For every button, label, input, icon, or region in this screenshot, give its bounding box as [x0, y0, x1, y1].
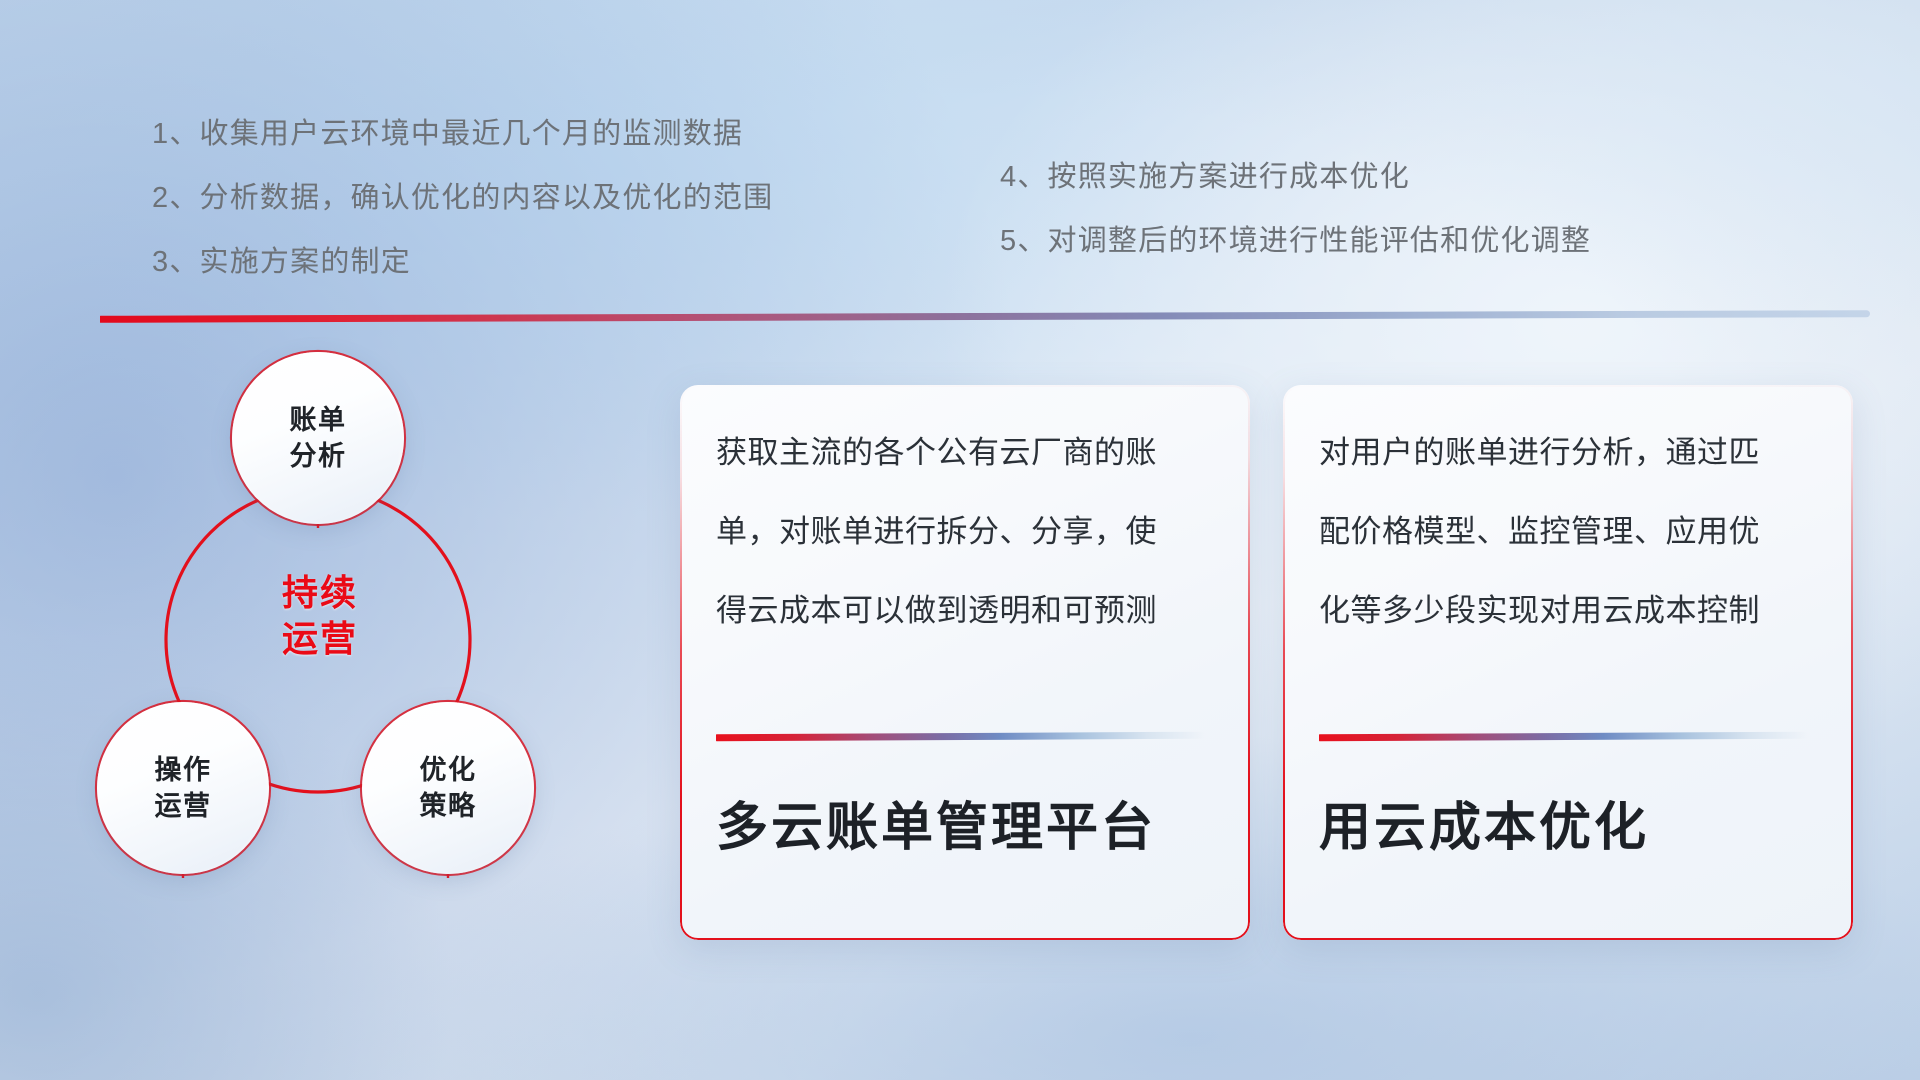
diagram-node-operations[interactable]: 操作 运营 — [97, 702, 269, 874]
step-item-2: 2、分析数据，确认优化的内容以及优化的范围 — [152, 184, 773, 213]
step-list-right: 4、按照实施方案进行成本优化 5、对调整后的环境进行性能评估和优化调整 — [1000, 163, 1591, 291]
card-1-title: 多云账单管理平台 — [716, 785, 1156, 860]
card-1-line-1: 获取主流的各个公有云厂商的账 — [716, 437, 1220, 468]
diagram-node-optimization-strategy-label: 优化 策略 — [420, 752, 477, 824]
node-br-line1: 优化 — [420, 755, 477, 785]
step-item-1: 1、收集用户云环境中最近几个月的监测数据 — [152, 120, 773, 149]
center-label-line2: 运营 — [282, 618, 358, 659]
diagram-node-bill-analysis[interactable]: 账单 分析 — [232, 352, 404, 524]
node-bl-line1: 操作 — [155, 755, 212, 785]
diagram-node-bill-analysis-label: 账单 分析 — [290, 402, 347, 474]
feature-card-multicloud-billing[interactable]: 获取主流的各个公有云厂商的账 单，对账单进行拆分、分享，使 得云成本可以做到透明… — [680, 385, 1250, 940]
card-2-line-3: 化等多少段实现对用云成本控制 — [1319, 595, 1823, 626]
card-1-divider — [716, 732, 1206, 742]
diagram-node-optimization-strategy[interactable]: 优化 策略 — [362, 702, 534, 874]
card-1-line-3: 得云成本可以做到透明和可预测 — [716, 595, 1220, 626]
feature-card-2-body: 对用户的账单进行分析，通过匹 配价格模型、监控管理、应用优 化等多少段实现对用云… — [1319, 437, 1823, 674]
center-label-line1: 持续 — [282, 572, 358, 613]
diagram-center-label: 持续 运营 — [260, 570, 380, 662]
node-br-line2: 策略 — [420, 791, 477, 821]
card-1-line-2: 单，对账单进行拆分、分享，使 — [716, 516, 1220, 547]
node-bl-line2: 运营 — [155, 791, 212, 821]
node-top-line2: 分析 — [290, 441, 347, 471]
node-top-line1: 账单 — [290, 405, 347, 435]
step-list-left: 1、收集用户云环境中最近几个月的监测数据 2、分析数据，确认优化的内容以及优化的… — [152, 120, 773, 312]
feature-card-1-body: 获取主流的各个公有云厂商的账 单，对账单进行拆分、分享，使 得云成本可以做到透明… — [716, 437, 1220, 674]
card-2-line-2: 配价格模型、监控管理、应用优 — [1319, 516, 1823, 547]
feature-card-cloud-cost-optimization[interactable]: 对用户的账单进行分析，通过匹 配价格模型、监控管理、应用优 化等多少段实现对用云… — [1283, 385, 1853, 940]
section-divider — [100, 310, 1870, 323]
card-2-divider — [1319, 732, 1809, 742]
card-2-title: 用云成本优化 — [1319, 785, 1649, 860]
diagram-node-operations-label: 操作 运营 — [155, 752, 212, 824]
step-item-3: 3、实施方案的制定 — [152, 248, 773, 277]
continuous-operation-diagram: 账单 分析 操作 运营 优化 策略 持续 运营 — [100, 340, 660, 940]
step-item-4: 4、按照实施方案进行成本优化 — [1000, 163, 1591, 192]
step-item-5: 5、对调整后的环境进行性能评估和优化调整 — [1000, 227, 1591, 256]
card-2-line-1: 对用户的账单进行分析，通过匹 — [1319, 437, 1823, 468]
